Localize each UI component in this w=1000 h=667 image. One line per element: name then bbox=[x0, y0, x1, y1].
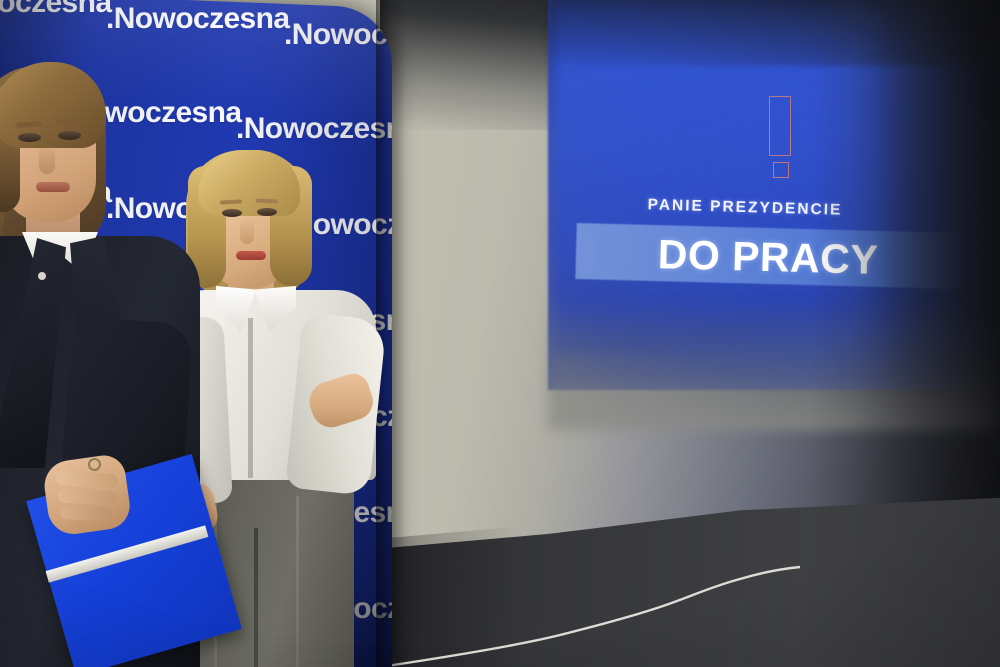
speaker-left-eye-left bbox=[18, 133, 41, 142]
speaker-left-hair-top bbox=[0, 62, 106, 148]
exclamation-bar bbox=[769, 96, 791, 156]
speaker-left-finger-3 bbox=[60, 506, 112, 521]
exclamation-dot bbox=[773, 162, 789, 178]
speaker-right-brow-right bbox=[256, 199, 278, 204]
backdrop-wordmark: .Nowoczesna bbox=[236, 112, 392, 146]
backdrop-wordmark: .Nowoczesna bbox=[106, 2, 289, 36]
speaker-right-crease-right bbox=[296, 496, 299, 667]
speaker-right-eye-right bbox=[257, 208, 277, 216]
speaker-right-leg-split bbox=[254, 528, 258, 667]
exclamation-mark-icon bbox=[765, 96, 799, 182]
backdrop-wordmark: .Nowoczesna bbox=[284, 18, 392, 52]
speaker-right-mouth bbox=[236, 251, 266, 260]
speaker-left-shirt-button bbox=[38, 272, 46, 280]
speaker-left-mouth bbox=[36, 182, 70, 192]
speaker-left-ring bbox=[88, 458, 101, 471]
speaker-right-nose bbox=[240, 218, 254, 244]
backdrop-wordmark: .Nowoczesna bbox=[0, 0, 111, 20]
speaker-left-finger-2 bbox=[58, 488, 117, 505]
speaker-left-nose bbox=[39, 144, 55, 174]
press-conference-photo: PANIE PREZYDENCIE DO PRACY .Nowoczesna.N… bbox=[0, 0, 1000, 667]
speaker-left-eye-right bbox=[58, 131, 81, 140]
speaker-right-placket bbox=[248, 318, 253, 478]
speaker-left bbox=[0, 60, 230, 667]
